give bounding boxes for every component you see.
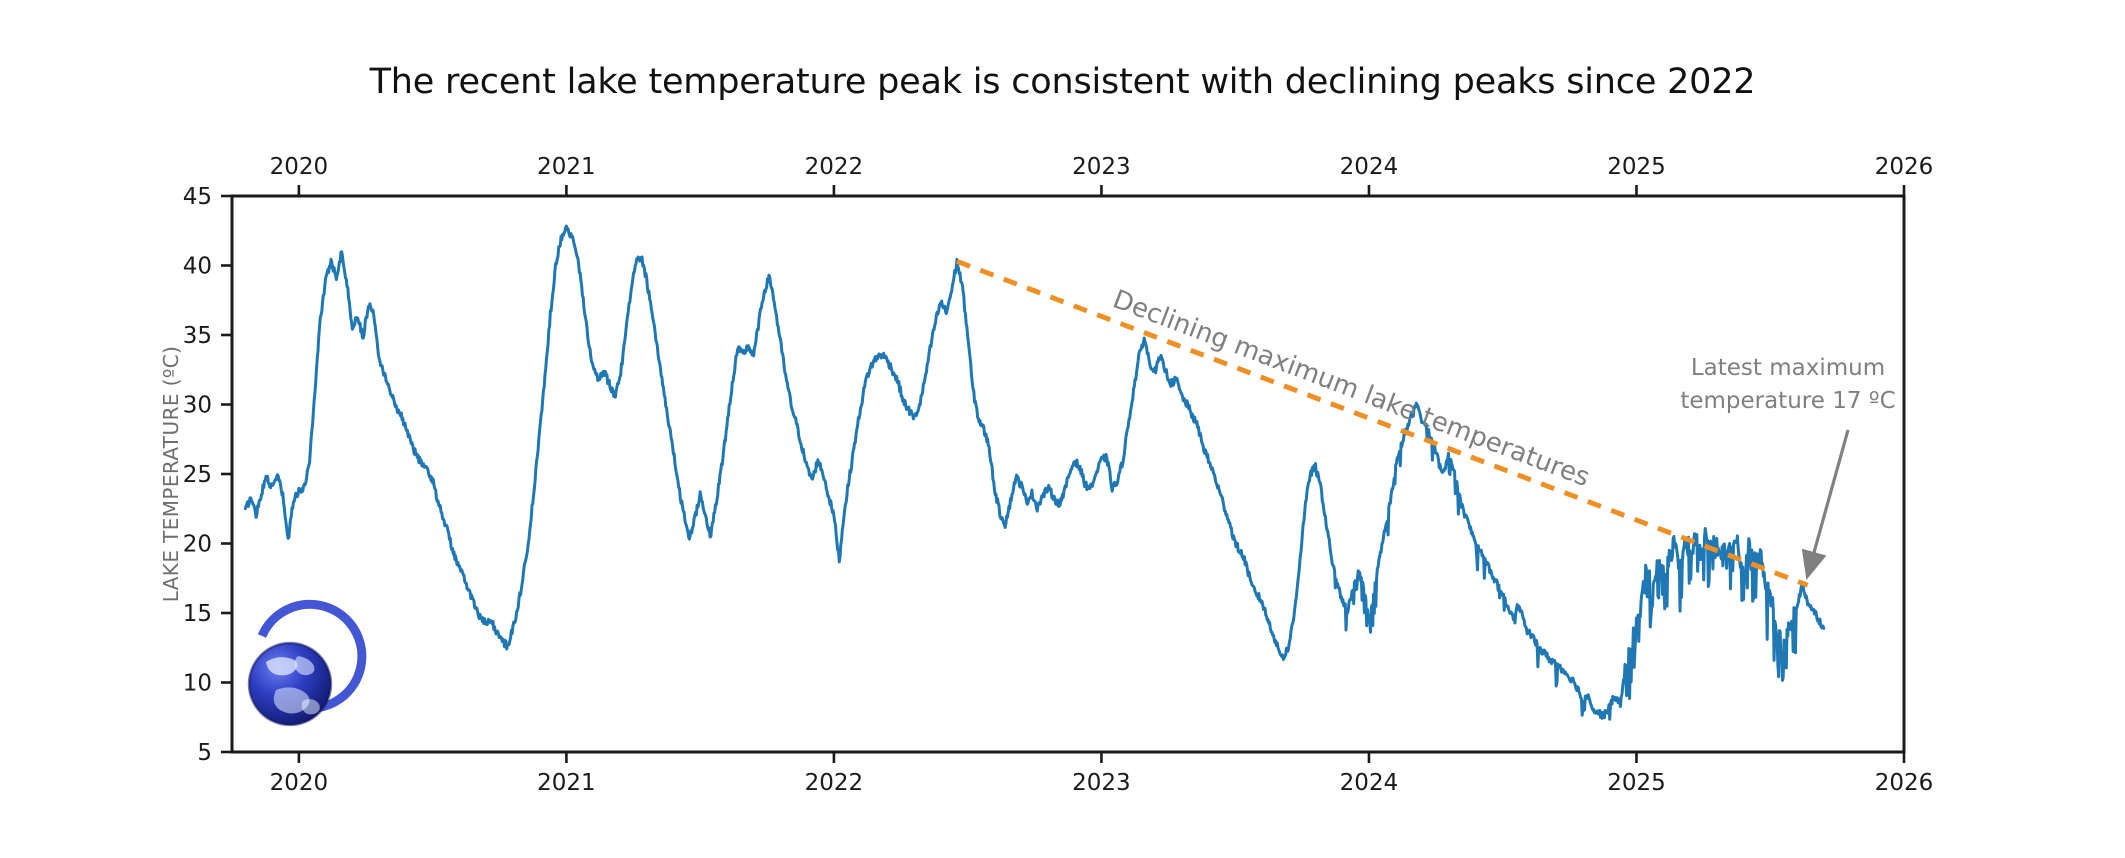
x-tick-label: 2025 [1607, 770, 1666, 796]
x-axis-top: 2020202120222023202420252026 [270, 154, 1934, 196]
x-tick-label: 2023 [1072, 154, 1131, 180]
y-tick-label: 45 [183, 184, 212, 210]
y-tick-label: 5 [197, 740, 212, 766]
x-axis-bottom: 2020202120222023202420252026 [270, 752, 1934, 796]
callout-arrow [1808, 430, 1848, 575]
callout-line-2: temperature 17 ºC [1680, 388, 1895, 414]
x-tick-label: 2024 [1340, 154, 1399, 180]
y-tick-label: 15 [183, 601, 212, 627]
y-tick-label: 30 [183, 393, 212, 419]
x-tick-label: 2024 [1340, 770, 1399, 796]
y-tick-label: 35 [183, 323, 212, 349]
trend-annotation-label: Declining maximum lake temperatures [1109, 285, 1594, 494]
callout-line-1: Latest maximum [1691, 355, 1885, 381]
y-tick-label: 20 [183, 532, 212, 558]
y-axis: 51015202530354045 [183, 184, 232, 766]
x-tick-label: 2025 [1607, 154, 1666, 180]
line-chart-canvas: 51015202530354045 2020202120222023202420… [0, 0, 2125, 858]
x-tick-label: 2022 [805, 770, 864, 796]
earth-globe-logo [249, 600, 369, 725]
y-axis-title: LAKE TEMPERATURE (ºC) [159, 346, 183, 603]
x-tick-label: 2020 [270, 154, 329, 180]
x-tick-label: 2026 [1875, 770, 1934, 796]
chart-figure: The recent lake temperature peak is cons… [0, 0, 2125, 858]
y-tick-label: 10 [183, 671, 212, 697]
x-tick-label: 2020 [270, 770, 329, 796]
x-tick-label: 2022 [805, 154, 864, 180]
y-tick-label: 25 [183, 462, 212, 488]
x-tick-label: 2023 [1072, 770, 1131, 796]
y-tick-label: 40 [183, 254, 212, 280]
x-tick-label: 2021 [537, 154, 596, 180]
x-tick-label: 2026 [1875, 154, 1934, 180]
x-tick-label: 2021 [537, 770, 596, 796]
